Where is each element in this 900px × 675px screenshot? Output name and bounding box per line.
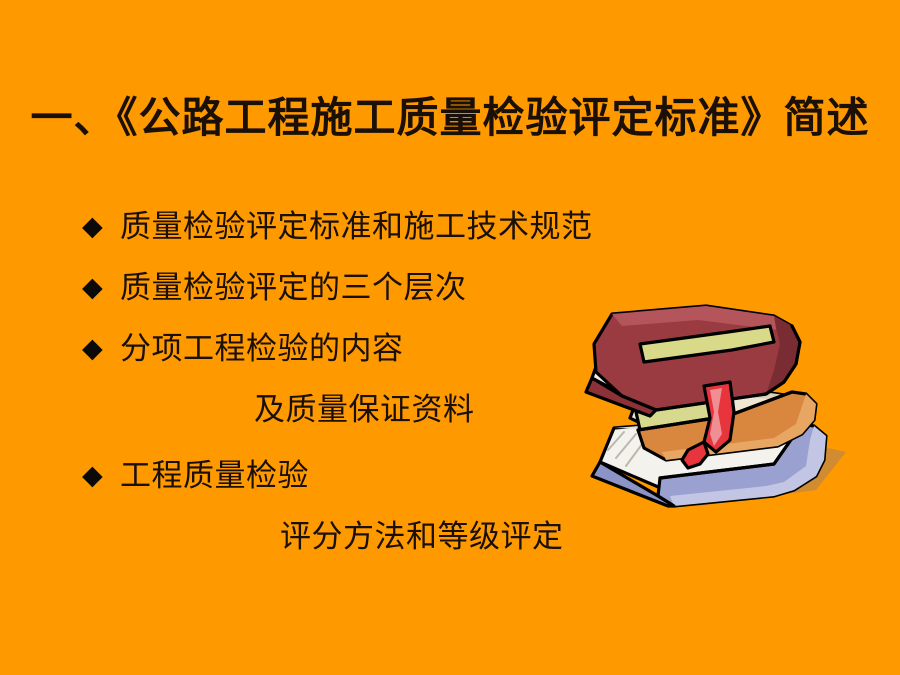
bullet-list: ◆ 质量检验评定标准和施工技术规范 ◆ 质量检验评定的三个层次 ◆ 分项工程检验… [82, 207, 642, 578]
list-item: ◆ 工程质量检验 [82, 456, 642, 496]
diamond-bullet-icon: ◆ [82, 456, 120, 496]
diamond-bullet-icon: ◆ [82, 268, 120, 308]
list-item-label: 质量检验评定标准和施工技术规范 [120, 207, 642, 247]
presentation-slide: 一、《公路工程施工质量检验评定标准》简述 ◆ 质量检验评定标准和施工技术规范 ◆… [0, 0, 900, 675]
stack-of-books-icon [578, 300, 856, 528]
list-item-label: 工程质量检验 [120, 456, 642, 496]
list-item: ◆ 质量检验评定的三个层次 [82, 268, 642, 308]
list-item-label: 质量检验评定的三个层次 [120, 268, 642, 308]
diamond-bullet-icon: ◆ [82, 207, 120, 247]
list-item-continuation: 评分方法和等级评定 [82, 517, 642, 557]
diamond-bullet-icon: ◆ [82, 329, 120, 369]
list-item-continuation: 及质量保证资料 [82, 390, 642, 430]
stack-of-books-image [578, 300, 856, 528]
list-item-continuation-label: 评分方法和等级评定 [82, 517, 564, 557]
list-item-label: 分项工程检验的内容 [120, 329, 642, 369]
list-item: ◆ 质量检验评定标准和施工技术规范 [82, 207, 642, 247]
list-item-continuation-label: 及质量保证资料 [82, 390, 475, 430]
list-item: ◆ 分项工程检验的内容 [82, 329, 642, 369]
page-title: 一、《公路工程施工质量检验评定标准》简述 [0, 94, 900, 141]
